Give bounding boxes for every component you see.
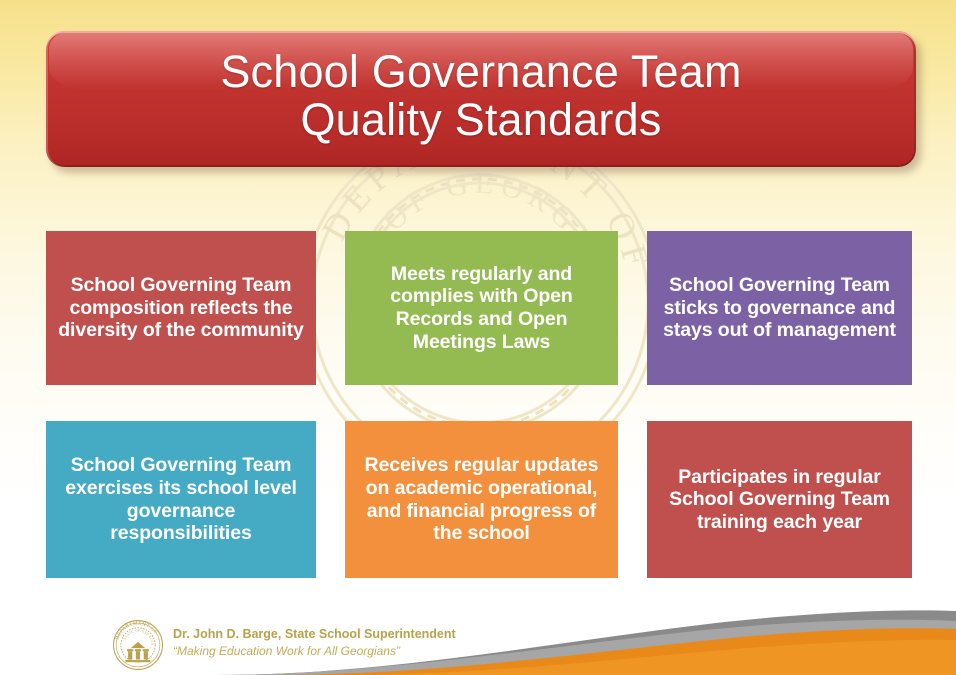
standard-governance-not-management[interactable]: School Governing Team sticks to governan… [647, 231, 912, 385]
title-banner: School Governance Team Quality Standards [46, 31, 916, 167]
standard-text: School Governing Team composition reflec… [56, 274, 306, 342]
slide-title: School Governance Team Quality Standards [220, 48, 741, 143]
footer-identity: DEPARTMENT OF STATE OF GEORGIA [112, 619, 456, 671]
standard-school-level-responsibilities[interactable]: School Governing Team exercises its scho… [46, 421, 316, 578]
standard-text: Receives regular updates on academic ope… [355, 454, 608, 544]
standard-open-records-meetings[interactable]: Meets regularly and complies with Open R… [345, 231, 618, 385]
banner-body: School Governance Team Quality Standards [46, 31, 916, 167]
footer-tagline: “Making Education Work for All Georgians… [173, 643, 456, 659]
standard-regular-updates[interactable]: Receives regular updates on academic ope… [345, 421, 618, 578]
standard-annual-training[interactable]: Participates in regular School Governing… [647, 421, 912, 578]
standard-text: School Governing Team exercises its scho… [56, 454, 306, 544]
standard-text: Participates in regular School Governing… [657, 466, 902, 534]
slide-canvas: DEPARTMENT OF OF GEORGIA [0, 0, 956, 675]
footer-text-block: Dr. John D. Barge, State School Superint… [173, 626, 456, 663]
standard-text: Meets regularly and complies with Open R… [355, 263, 608, 353]
standard-text: School Governing Team sticks to governan… [657, 274, 902, 342]
georgia-doe-seal-icon: DEPARTMENT OF STATE OF GEORGIA [112, 619, 164, 671]
slide-footer: DEPARTMENT OF STATE OF GEORGIA [0, 605, 956, 675]
standards-grid: School Governing Team composition reflec… [46, 231, 910, 578]
standard-composition-diversity[interactable]: School Governing Team composition reflec… [46, 231, 316, 385]
superintendent-name: Dr. John D. Barge, State School Superint… [173, 626, 456, 643]
